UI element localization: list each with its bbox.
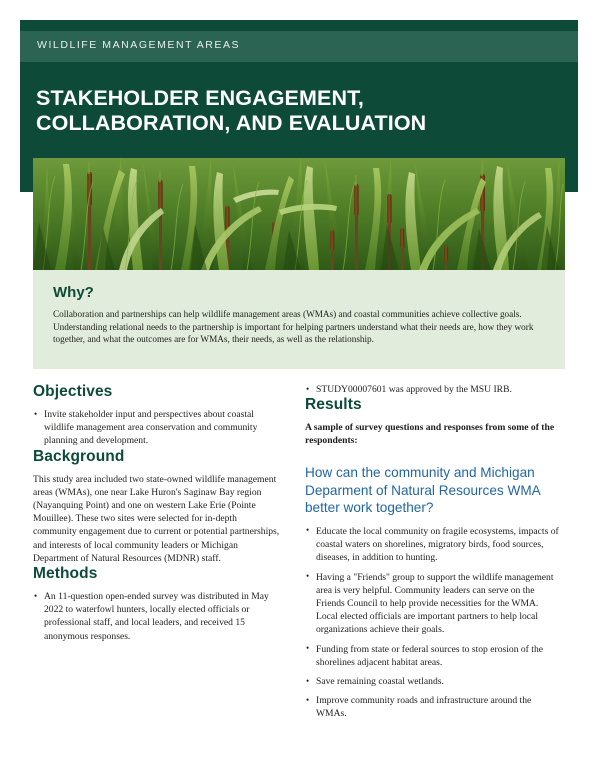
survey-answers-list: Educate the local community on fragile e… [305, 525, 561, 721]
results-heading: Results [305, 396, 561, 414]
objectives-heading: Objectives [33, 383, 281, 401]
poster-page: WILDLIFE MANAGEMENT AREAS STAKEHOLDER EN… [0, 0, 600, 776]
list-item: Funding from state or federal sources to… [305, 643, 561, 669]
right-column: STUDY00007601 was approved by the MSU IR… [305, 383, 561, 721]
results-lead-text: A sample of survey questions and respons… [305, 421, 561, 447]
why-body-text: Collaboration and partnerships can help … [53, 308, 549, 346]
list-item: Having a "Friends" group to support the … [305, 571, 561, 637]
background-heading: Background [33, 448, 281, 466]
list-item: Educate the local community on fragile e… [305, 525, 561, 565]
list-item: An 11-question open-ended survey was dis… [33, 590, 281, 643]
cattail-marsh-photo [33, 158, 565, 270]
page-title: STAKEHOLDER ENGAGEMENT, COLLABORATION, A… [36, 86, 546, 136]
left-column: Objectives Invite stakeholder input and … [33, 383, 281, 643]
why-heading: Why? [53, 284, 94, 301]
list-item: Save remaining coastal wetlands. [305, 675, 561, 688]
marsh-illustration [33, 158, 565, 270]
survey-question: How can the community and Michigan Depar… [305, 464, 561, 517]
list-item: Improve community roads and infrastructu… [305, 694, 561, 720]
background-body: This study area included two state-owned… [33, 473, 281, 565]
irb-list: STUDY00007601 was approved by the MSU IR… [305, 383, 561, 396]
eyebrow-label: WILDLIFE MANAGEMENT AREAS [37, 39, 240, 51]
methods-list: An 11-question open-ended survey was dis… [33, 590, 281, 643]
objectives-list: Invite stakeholder input and perspective… [33, 408, 281, 448]
methods-heading: Methods [33, 565, 281, 583]
list-item: Invite stakeholder input and perspective… [33, 408, 281, 448]
why-callout-box: Why? Collaboration and partnerships can … [33, 270, 565, 369]
list-item: STUDY00007601 was approved by the MSU IR… [305, 383, 561, 396]
